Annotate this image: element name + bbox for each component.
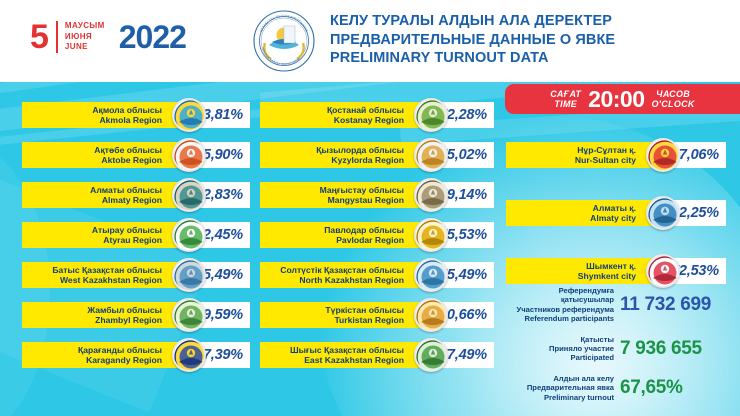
- region-name-kz: Қостанай облысы: [327, 105, 404, 115]
- summary-label: ҚатыстыПриняло участиеParticipated: [508, 335, 620, 363]
- aktobe-region-emblem: [172, 138, 206, 172]
- year: 2022: [119, 20, 186, 54]
- kostanay-region-emblem: [414, 98, 448, 132]
- region-name-en: North Kazakhstan Region: [280, 275, 404, 285]
- north-kazakhstan-region-emblem: [414, 258, 448, 292]
- summary-label-en: Preliminary turnout: [508, 393, 614, 402]
- summary-label-kz: Алдын ала келу: [508, 374, 614, 383]
- time-label: САҒАТ TIME: [550, 89, 581, 109]
- regions-column-2: Қостанай облысыKostanay Region72,28% Қыз…: [260, 102, 498, 382]
- shymkent-city-emblem: [646, 254, 680, 288]
- summary-label-en: Participated: [508, 353, 614, 362]
- kazakhstan-central-election-commission-emblem: ҚАЗАҚСТАН РЕСПУБЛИКАСЫНЫҢ ОРТАЛЫҚ САЙЛАУ…: [252, 9, 316, 73]
- summary-label-kz: Референдумға қатысушылар: [508, 286, 614, 305]
- region-row: Солтүстік Қазақстан облысыNorth Kazakhst…: [260, 262, 498, 288]
- region-name: Түркістан облысыTurkistan Region: [325, 305, 404, 325]
- summary-label: Референдумға қатысушыларУчастников рефер…: [508, 286, 620, 324]
- region-name-kz: Түркістан облысы: [325, 305, 404, 315]
- almaty-city-emblem: [646, 196, 680, 230]
- time-value: 20:00: [588, 88, 644, 111]
- region-name: Алматы қ.Almaty city: [590, 203, 636, 223]
- region-row: Түркістан облысыTurkistan Region80,66%: [260, 302, 498, 328]
- date-divider: [56, 21, 58, 53]
- east-kazakhstan-region-emblem: [414, 338, 448, 372]
- region-name-en: Kyzylorda Region: [316, 155, 404, 165]
- region-name-bar: Қызылорда облысыKyzylorda Region: [260, 142, 432, 168]
- summary-label-en: Referendum participants: [508, 314, 614, 323]
- summary-label: Алдын ала келуПредварительная явкаPrelim…: [508, 374, 620, 402]
- region-name-en: Aktobe Region: [94, 155, 162, 165]
- region-name: Атырау облысыAtyrau Region: [92, 225, 162, 245]
- region-name-bar: Солтүстік Қазақстан облысыNorth Kazakhst…: [260, 262, 432, 288]
- region-name-bar: Алматы облысыAlmaty Region: [22, 182, 190, 208]
- region-row: Алматы қ.Almaty city32,25%: [506, 200, 730, 226]
- region-name-bar: Шымкент қ.Shymkent city: [506, 258, 664, 284]
- region-name: Қарағанды облысыKaragandy Region: [78, 345, 162, 365]
- region-name-bar: Ақтөбе облысыAktobe Region: [22, 142, 190, 168]
- region-name-bar: Нұр-Сұлтан қ.Nur-Sultan city: [506, 142, 664, 168]
- summary-label-ru: Предварительная явка: [508, 383, 614, 392]
- region-name-bar: Ақмола облысыAkmola Region: [22, 102, 190, 128]
- region-row: Алматы облысыAlmaty Region72,83%: [22, 182, 250, 208]
- region-row: Қарағанды облысыKaragandy Region77,39%: [22, 342, 250, 368]
- month-en: JUNE: [65, 42, 105, 53]
- region-name-bar: Алматы қ.Almaty city: [506, 200, 664, 226]
- summary-value: 7 936 655: [620, 338, 702, 360]
- region-row: Шығыс Қазақстан облысыEast Kazakhstan Re…: [260, 342, 498, 368]
- region-name-kz: Атырау облысы: [92, 225, 162, 235]
- month-names: МАУСЫМ ИЮНЯ JUNE: [65, 21, 105, 53]
- mangystau-region-emblem: [414, 178, 448, 212]
- month-ru: ИЮНЯ: [65, 32, 105, 43]
- region-name-kz: Жамбыл облысы: [87, 305, 162, 315]
- region-name-kz: Шымкент қ.: [578, 261, 636, 271]
- region-row: Қостанай облысыKostanay Region72,28%: [260, 102, 498, 128]
- month-kz: МАУСЫМ: [65, 21, 105, 32]
- region-name: Павлодар облысыPavlodar Region: [324, 225, 404, 245]
- summary-value: 11 732 699: [620, 294, 711, 316]
- summary-row: ҚатыстыПриняло участиеParticipated7 936 …: [508, 335, 736, 363]
- summary-block: Референдумға қатысушыларУчастников рефер…: [508, 286, 736, 413]
- header: 5 МАУСЫМ ИЮНЯ JUNE 2022 ҚАЗАҚСТАН Р: [0, 0, 740, 82]
- region-name-kz: Павлодар облысы: [324, 225, 404, 235]
- region-row: Маңғыстау облысыMangystau Region59,14%: [260, 182, 498, 208]
- region-name-en: Pavlodar Region: [324, 235, 404, 245]
- region-name: Қостанай облысыKostanay Region: [327, 105, 404, 125]
- region-name: Батыс Қазақстан облысыWest Kazakhstan Re…: [52, 265, 162, 285]
- region-name-kz: Ақтөбе облысы: [94, 145, 162, 155]
- almaty-region-emblem: [172, 178, 206, 212]
- region-name-en: Karagandy Region: [78, 355, 162, 365]
- time-suffix: ЧАСОВ O'CLOCK: [651, 89, 694, 109]
- summary-label-ru: Приняло участие: [508, 344, 614, 353]
- region-name-bar: Қарағанды облысыKaragandy Region: [22, 342, 190, 368]
- region-name-kz: Солтүстік Қазақстан облысы: [280, 265, 404, 275]
- region-name: Алматы облысыAlmaty Region: [90, 185, 162, 205]
- summary-row: Референдумға қатысушыларУчастников рефер…: [508, 286, 736, 324]
- time-banner: САҒАТ TIME 20:00 ЧАСОВ O'CLOCK: [505, 84, 740, 114]
- region-name-kz: Шығыс Қазақстан облысы: [290, 345, 404, 355]
- region-name: Қызылорда облысыKyzylorda Region: [316, 145, 404, 165]
- region-row: Батыс Қазақстан облысыWest Kazakhstan Re…: [22, 262, 250, 288]
- region-name-bar: Қостанай облысыKostanay Region: [260, 102, 432, 128]
- region-name-en: Akmola Region: [92, 115, 162, 125]
- region-name-bar: Батыс Қазақстан облысыWest Kazakhstan Re…: [22, 262, 190, 288]
- region-name: Ақмола облысыAkmola Region: [92, 105, 162, 125]
- region-name: Шымкент қ.Shymkent city: [578, 261, 636, 281]
- region-name: Ақтөбе облысыAktobe Region: [94, 145, 162, 165]
- region-name-kz: Алматы облысы: [90, 185, 162, 195]
- west-kazakhstan-region-emblem: [172, 258, 206, 292]
- region-name-kz: Батыс Қазақстан облысы: [52, 265, 162, 275]
- time-suffix-ru: ЧАСОВ: [656, 89, 690, 99]
- region-row: Жамбыл облысыZhambyl Region69,59%: [22, 302, 250, 328]
- region-name-en: Nur-Sultan city: [575, 155, 636, 165]
- region-name-en: Almaty city: [590, 213, 636, 223]
- pavlodar-region-emblem: [414, 218, 448, 252]
- time-label-kz: САҒАТ: [550, 89, 581, 99]
- nur-sultan-city-emblem: [646, 138, 680, 172]
- region-name-kz: Маңғыстау облысы: [320, 185, 404, 195]
- region-name-en: Kostanay Region: [327, 115, 404, 125]
- region-name-bar: Маңғыстау облысыMangystau Region: [260, 182, 432, 208]
- zhambyl-region-emblem: [172, 298, 206, 332]
- region-row: Қызылорда облысыKyzylorda Region75,02%: [260, 142, 498, 168]
- region-name-kz: Алматы қ.: [590, 203, 636, 213]
- summary-value: 67,65%: [620, 377, 683, 399]
- region-name-en: East Kazakhstan Region: [290, 355, 404, 365]
- region-row: Ақтөбе облысыAktobe Region55,90%: [22, 142, 250, 168]
- region-name-kz: Қызылорда облысы: [316, 145, 404, 155]
- kyzylorda-region-emblem: [414, 138, 448, 172]
- region-name-bar: Павлодар облысыPavlodar Region: [260, 222, 432, 248]
- akmola-region-emblem: [172, 98, 206, 132]
- region-name: Солтүстік Қазақстан облысыNorth Kazakhst…: [280, 265, 404, 285]
- summary-label-kz: Қатысты: [508, 335, 614, 344]
- region-name-kz: Ақмола облысы: [92, 105, 162, 115]
- region-name: Нұр-Сұлтан қ.Nur-Sultan city: [575, 145, 636, 165]
- day-number: 5: [30, 20, 48, 54]
- region-name-en: Almaty Region: [90, 195, 162, 205]
- region-row: Ақмола облысыAkmola Region73,81%: [22, 102, 250, 128]
- region-name-kz: Нұр-Сұлтан қ.: [575, 145, 636, 155]
- region-name: Маңғыстау облысыMangystau Region: [320, 185, 404, 205]
- regions-column-1: Ақмола облысыAkmola Region73,81% Ақтөбе …: [22, 102, 250, 382]
- karagandy-region-emblem: [172, 338, 206, 372]
- summary-label-ru: Участников референдума: [508, 305, 614, 314]
- region-row: Павлодар облысыPavlodar Region75,53%: [260, 222, 498, 248]
- region-name-bar: Шығыс Қазақстан облысыEast Kazakhstan Re…: [260, 342, 432, 368]
- time-label-en: TIME: [554, 99, 577, 109]
- title-ru: ПРЕДВАРИТЕЛЬНЫЕ ДАННЫЕ О ЯВКЕ: [330, 31, 615, 50]
- region-row: Шымкент қ.Shymkent city72,53%: [506, 258, 730, 284]
- page-title: КЕЛУ ТУРАЛЫ АЛДЫН АЛА ДЕРЕКТЕР ПРЕДВАРИТ…: [330, 12, 615, 68]
- region-row: Нұр-Сұлтан қ.Nur-Sultan city57,06%: [506, 142, 730, 168]
- region-name: Шығыс Қазақстан облысыEast Kazakhstan Re…: [290, 345, 404, 365]
- region-name-en: Mangystau Region: [320, 195, 404, 205]
- turkistan-region-emblem: [414, 298, 448, 332]
- region-name-en: Zhambyl Region: [87, 315, 162, 325]
- region-name-bar: Түркістан облысыTurkistan Region: [260, 302, 432, 328]
- date-block: 5 МАУСЫМ ИЮНЯ JUNE 2022: [30, 20, 186, 54]
- region-row: Атырау облысыAtyrau Region62,45%: [22, 222, 250, 248]
- summary-row: Алдын ала келуПредварительная явкаPrelim…: [508, 374, 736, 402]
- region-name-en: Shymkent city: [578, 271, 636, 281]
- region-name-en: West Kazakhstan Region: [52, 275, 162, 285]
- title-kz: КЕЛУ ТУРАЛЫ АЛДЫН АЛА ДЕРЕКТЕР: [330, 12, 615, 31]
- region-name-bar: Атырау облысыAtyrau Region: [22, 222, 190, 248]
- region-name-kz: Қарағанды облысы: [78, 345, 162, 355]
- title-en: PRELIMINARY TURNOUT DATA: [330, 49, 615, 68]
- region-name-en: Atyrau Region: [92, 235, 162, 245]
- atyrau-region-emblem: [172, 218, 206, 252]
- time-suffix-en: O'CLOCK: [651, 99, 694, 109]
- region-name: Жамбыл облысыZhambyl Region: [87, 305, 162, 325]
- region-name-bar: Жамбыл облысыZhambyl Region: [22, 302, 190, 328]
- region-name-en: Turkistan Region: [325, 315, 404, 325]
